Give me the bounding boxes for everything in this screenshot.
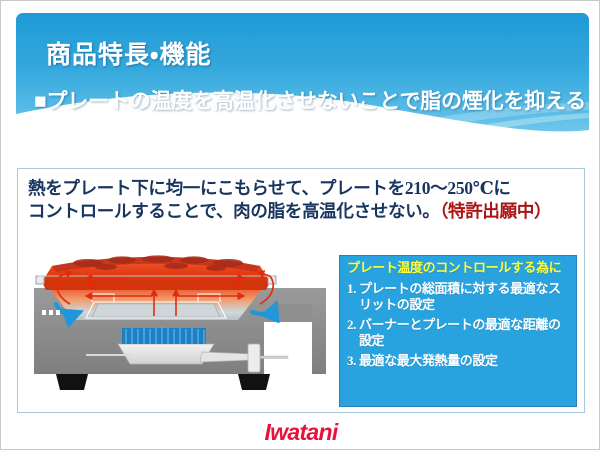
content-card: 熱をプレート下に均一にこもらせて、プレートを210～250℃に コントロールする… — [17, 168, 585, 413]
gas-valve-knob — [248, 344, 288, 372]
control-item-text: バーナーとプレートの最適な距離の設定 — [359, 317, 570, 348]
page-subtitle: ■プレートの温度を高温化させないことで脂の煙化を抑える — [34, 85, 586, 115]
stove-cross-section-diagram — [26, 244, 346, 404]
control-list-item: 3. 最適な最大発熱量の設定 — [347, 353, 570, 369]
grill-plate — [42, 255, 270, 290]
page-title: 商品特長・機能 — [46, 35, 212, 71]
lead-paragraph: 熱をプレート下に均一にこもらせて、プレートを210～250℃に コントロールする… — [28, 177, 576, 224]
control-item-number: 2. — [347, 317, 359, 348]
lead-line-2-main: コントロールすることで、肉の脂を高温化させない。 — [28, 201, 440, 221]
control-item-number: 1. — [347, 281, 359, 312]
control-panel-heading: プレート温度のコントロールする為に — [347, 261, 570, 276]
header-banner: 商品特長・機能 ■プレートの温度を高温化させないことで脂の煙化を抑える — [16, 13, 589, 146]
control-item-text: 最適な最大発熱量の設定 — [359, 353, 570, 369]
control-item-number: 3. — [347, 353, 359, 369]
slit-frame-inner — [92, 304, 220, 317]
slide-root: 商品特長・機能 ■プレートの温度を高温化させないことで脂の煙化を抑える 熱をプレ… — [0, 0, 600, 450]
lead-line-2: コントロールすることで、肉の脂を高温化させない。（特許出願中） — [28, 200, 576, 223]
control-points-panel: プレート温度のコントロールする為に 1. プレートの総面積に対する最適なスリット… — [339, 255, 577, 407]
control-item-text: プレートの総面積に対する最適なスリットの設定 — [359, 281, 570, 312]
control-indicator-marks — [42, 310, 60, 315]
control-list-item: 1. プレートの総面積に対する最適なスリットの設定 — [347, 281, 570, 312]
burner-flame — [122, 327, 206, 344]
patent-pending-note: （特許出願中） — [440, 201, 552, 221]
lead-line-1: 熱をプレート下に均一にこもらせて、プレートを210～250℃に — [28, 177, 576, 200]
iwatani-brand-logo: Iwatani — [1, 419, 600, 446]
stove-feet — [56, 374, 270, 390]
control-list-item: 2. バーナーとプレートの最適な距離の設定 — [347, 317, 570, 348]
